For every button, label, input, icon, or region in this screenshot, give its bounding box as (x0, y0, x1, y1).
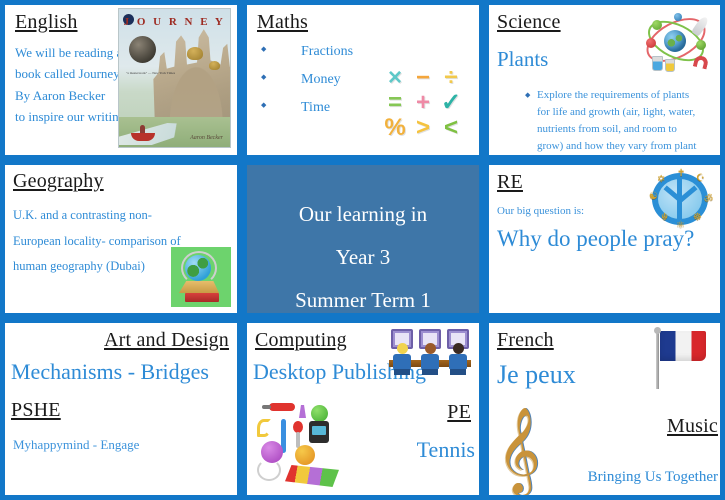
science-atom-icon (640, 10, 712, 72)
pe-topic: Tennis (417, 435, 475, 465)
book-icon (185, 293, 219, 302)
ball-icon (295, 445, 315, 465)
pshe-topic: Myhappymind - Engage (13, 435, 139, 455)
molecule-node-icon (674, 13, 682, 21)
earth-icon (664, 30, 686, 52)
book-cover-author: Aaron Becker (190, 135, 223, 141)
center-line-1: Our learning in (247, 193, 479, 236)
subject-title-art-and-design: Art and Design (104, 329, 229, 352)
award-medal-icon (129, 36, 156, 63)
castle-dome-icon (187, 47, 203, 60)
child-figure-icon (393, 343, 411, 375)
minus-icon: − (416, 66, 430, 90)
cell-french-and-music: French Je peux Music Bringing Us Togethe… (484, 318, 725, 500)
english-line-4: to inspire our writing. (15, 106, 133, 127)
world-faiths-peace-symbol-icon: ✝ ☪ ✡ ☯ ॐ ☬ ☸ ⚛ (648, 169, 714, 231)
star-and-crescent-icon: ☪ (696, 173, 705, 184)
book-cover-title: J O U R N E Y (119, 16, 230, 28)
cone-icon (299, 405, 306, 418)
khanda-icon: ☬ (661, 212, 668, 223)
dharma-wheel-icon: ☸ (693, 212, 702, 223)
list-item: Fractions (261, 44, 469, 60)
castle-dome-icon (209, 61, 220, 70)
molecule-node-icon (652, 20, 662, 30)
flag-finial (654, 327, 661, 334)
multiply-icon: × (388, 66, 402, 90)
om-icon: ॐ (704, 191, 713, 205)
racket-icon (293, 421, 303, 433)
children-at-computers-icon (389, 327, 471, 377)
subject-title-re: RE (497, 171, 523, 194)
english-line-2: book called Journey (15, 63, 133, 84)
atom-faith-icon: ⚛ (676, 220, 685, 231)
rope-icon (257, 419, 271, 437)
mats-icon (285, 465, 339, 487)
child-figure-icon (449, 343, 467, 375)
music-topic: Bringing Us Together (588, 467, 718, 487)
subject-title-computing: Computing (255, 329, 347, 352)
molecule-node-icon (696, 40, 706, 50)
flag-pole (656, 329, 659, 389)
greater-than-icon: > (416, 116, 430, 140)
subject-title-geography: Geography (13, 170, 104, 193)
pe-equipment-icon (255, 403, 341, 489)
geography-line-1: U.K. and a contrasting non- (13, 203, 229, 229)
maths-symbols-image: × − ÷ = + ✓ % > < (381, 65, 465, 141)
beaker-icon (652, 56, 663, 71)
center-line-3: Summer Term 1 (247, 279, 479, 318)
curriculum-overview-grid: English We will be reading a book called… (0, 0, 725, 500)
cell-maths: Maths Fractions Money Time × − ÷ = + ✓ %… (242, 0, 484, 160)
subject-title-pshe: PSHE (11, 399, 61, 422)
beaker-icon (665, 59, 675, 72)
plus-icon: + (416, 91, 430, 115)
equals-icon: = (388, 91, 402, 115)
pad-icon (309, 421, 329, 443)
treble-clef-icon: 𝄞 (497, 411, 543, 493)
journey-book-cover-image: J O U R N E Y "a masterwork" — New York … (118, 8, 231, 148)
child-figure-icon (421, 343, 439, 375)
book-cover-blurb: "a masterwork" — New York Times (126, 71, 175, 76)
ball-icon (311, 405, 328, 422)
globe-icon (185, 255, 211, 281)
cell-geography: Geography U.K. and a contrasting non- Eu… (0, 160, 242, 318)
subject-title-science: Science (497, 11, 561, 34)
divide-icon: ÷ (444, 66, 457, 90)
re-prompt: Our big question is: (497, 203, 584, 220)
magnet-icon (693, 54, 709, 69)
globe-and-book-icon (171, 247, 231, 307)
castle-illustration (150, 25, 231, 129)
flag-cloth (660, 331, 706, 361)
cell-science: Science Plants Explore the requirements … (484, 0, 725, 160)
cell-computing-and-pe: Computing Desktop Publishing PE Tennis (242, 318, 484, 500)
yin-yang-icon: ☯ (649, 191, 658, 202)
check-icon: ✓ (441, 91, 461, 115)
science-topic: Plants (497, 45, 548, 73)
english-line-3: By Aaron Becker (15, 85, 133, 106)
cross-icon: ✝ (677, 168, 685, 179)
center-line-2: Year 3 (247, 236, 479, 279)
less-than-icon: < (444, 116, 458, 140)
cell-re: RE Our big question is: Why do people pr… (484, 160, 725, 318)
french-topic: Je peux (497, 357, 576, 392)
subject-title-music: Music (667, 415, 718, 438)
percent-icon: % (384, 116, 405, 140)
subject-title-maths: Maths (257, 11, 469, 34)
star-of-david-icon: ✡ (657, 174, 665, 185)
art-topic: Mechanisms - Bridges (11, 357, 209, 387)
cell-art-and-pshe: Art and Design Mechanisms - Bridges PSHE… (0, 318, 242, 500)
subject-title-french: French (497, 329, 554, 352)
science-objective: Explore the requirements of plants for l… (525, 87, 704, 160)
english-line-1: We will be reading a (15, 42, 133, 63)
skipping-rope-icon (257, 459, 281, 481)
molecule-node-icon (646, 38, 656, 48)
subject-title-pe: PE (447, 401, 471, 424)
french-flag-icon (652, 329, 710, 391)
bat-icon (269, 403, 295, 411)
cell-center-title-panel: Our learning in Year 3 Summer Term 1 (242, 160, 484, 318)
cell-english: English We will be reading a book called… (0, 0, 242, 160)
center-panel-text: Our learning in Year 3 Summer Term 1 (247, 193, 479, 318)
